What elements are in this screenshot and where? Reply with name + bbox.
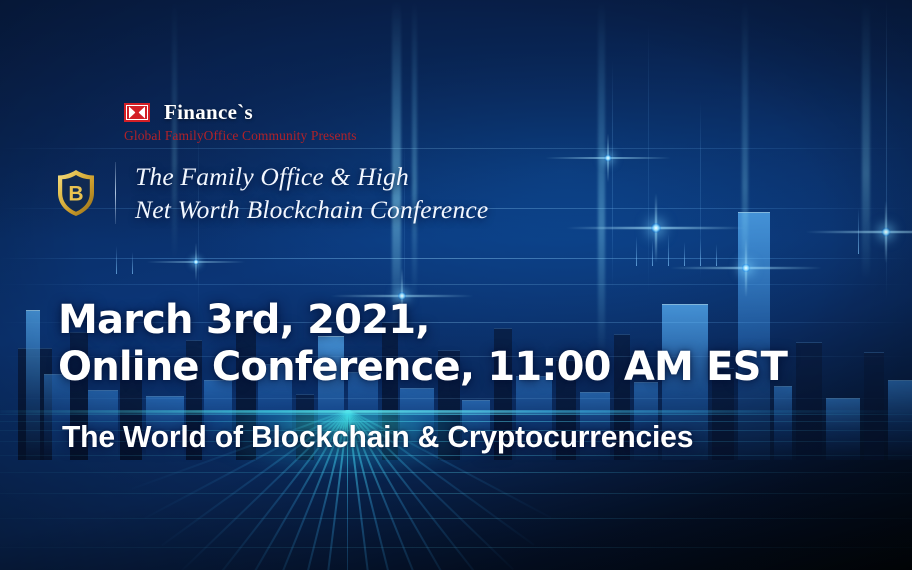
finances-logo-icon bbox=[124, 103, 150, 122]
blockchain-shield-b-icon: B bbox=[55, 169, 97, 217]
brand-name: Finance`s bbox=[164, 100, 253, 125]
event-subtitle: The World of Blockchain & Cryptocurrenci… bbox=[62, 419, 693, 455]
brand-tagline: Global FamilyOffice Community Presents bbox=[124, 128, 357, 144]
conference-banner: Finance`s Global FamilyOffice Community … bbox=[0, 0, 912, 570]
conference-title-group: B The Family Office & High Net Worth Blo… bbox=[55, 160, 488, 227]
conference-title: The Family Office & High Net Worth Block… bbox=[135, 160, 488, 227]
brand-block: Finance`s Global FamilyOffice Community … bbox=[124, 100, 357, 144]
conference-title-line2: Net Worth Blockchain Conference bbox=[135, 193, 488, 226]
conference-title-line1: The Family Office & High bbox=[135, 160, 488, 193]
event-headline: March 3rd, 2021, Online Conference, 11:0… bbox=[58, 297, 787, 391]
event-time-line: Online Conference, 11:00 AM EST bbox=[58, 344, 787, 391]
event-date-line: March 3rd, 2021, bbox=[58, 297, 787, 344]
banner-content: Finance`s Global FamilyOffice Community … bbox=[0, 0, 912, 570]
brand-row: Finance`s bbox=[124, 100, 357, 125]
title-divider bbox=[115, 162, 116, 224]
svg-text:B: B bbox=[68, 183, 83, 206]
